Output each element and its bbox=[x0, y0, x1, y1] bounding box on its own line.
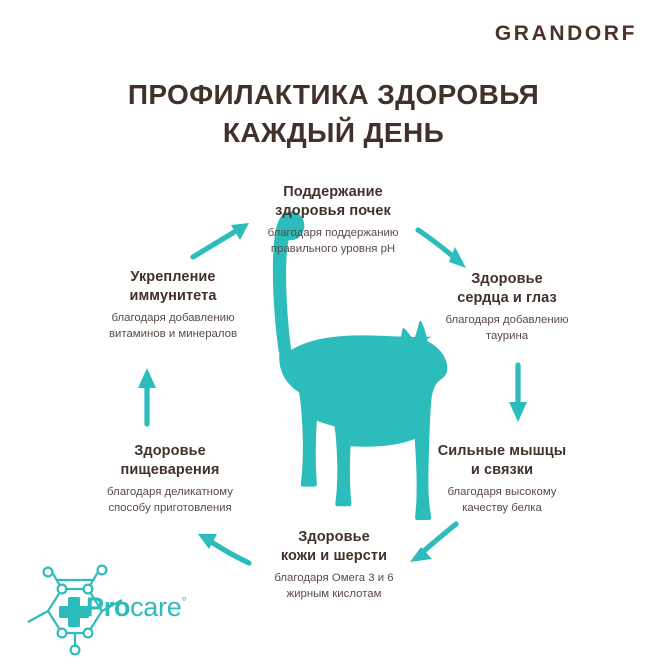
sub-line-2: таурина bbox=[412, 329, 602, 345]
cycle-node-skin-heading: Здоровье кожи и шерсти bbox=[235, 528, 433, 566]
cycle-node-immunity-heading: Укрепление иммунитета bbox=[78, 268, 268, 306]
sub-line-1: благодаря деликатному bbox=[70, 485, 270, 501]
sub-line-2: правильного уровня pH bbox=[233, 242, 433, 258]
brand-logo: GRANDORF bbox=[495, 22, 637, 46]
sub-line-1: благодаря добавлению bbox=[412, 313, 602, 329]
cycle-node-heart-heading: Здоровье сердца и глаз bbox=[412, 270, 602, 308]
heading-line-2: пищеварения bbox=[70, 461, 270, 480]
page-title: ПРОФИЛАКТИКА ЗДОРОВЬЯ КАЖДЫЙ ДЕНЬ bbox=[0, 76, 667, 151]
cycle-node-skin: Здоровье кожи и шерсти благодаря Омега 3… bbox=[235, 528, 433, 602]
sub-line-2: витаминов и минералов bbox=[78, 327, 268, 343]
cycle-node-muscles: Сильные мышцы и связки благодаря высоком… bbox=[404, 442, 600, 516]
cycle-node-heart-subtext: благодаря добавлению таурина bbox=[412, 313, 602, 344]
heading-line-1: Поддержание bbox=[233, 183, 433, 202]
procare-care-text: care bbox=[130, 592, 181, 622]
cycle-node-digestion-subtext: благодаря деликатному способу приготовле… bbox=[70, 485, 270, 516]
cycle-node-immunity-subtext: благодаря добавлению витаминов и минерал… bbox=[78, 311, 268, 342]
heading-line-2: иммунитета bbox=[78, 287, 268, 306]
sub-line-1: благодаря Омега 3 и 6 bbox=[235, 571, 433, 587]
cycle-node-kidney-subtext: благодаря поддержанию правильного уровня… bbox=[233, 226, 433, 257]
cycle-node-kidney: Поддержание здоровья почек благодаря под… bbox=[233, 183, 433, 257]
cycle-node-digestion-heading: Здоровье пищеварения bbox=[70, 442, 270, 480]
sub-line-1: благодаря поддержанию bbox=[233, 226, 433, 242]
heading-line-1: Здоровье bbox=[412, 270, 602, 289]
cycle-node-heart: Здоровье сердца и глаз благодаря добавле… bbox=[412, 270, 602, 344]
sub-line-1: благодаря высокому bbox=[404, 485, 600, 501]
arrow-heart-to-muscles bbox=[509, 365, 527, 422]
cycle-node-muscles-subtext: благодаря высокому качеству белка bbox=[404, 485, 600, 516]
heading-line-2: сердца и глаз bbox=[412, 289, 602, 308]
sub-line-2: качеству белка bbox=[404, 501, 600, 517]
cycle-node-immunity: Укрепление иммунитета благодаря добавлен… bbox=[78, 268, 268, 342]
cycle-node-muscles-heading: Сильные мышцы и связки bbox=[404, 442, 600, 480]
heading-line-2: и связки bbox=[404, 461, 600, 480]
sub-line-2: способу приготовления bbox=[70, 501, 270, 517]
heading-line-1: Здоровье bbox=[235, 528, 433, 547]
arrow-digestion-to-immunity bbox=[138, 368, 156, 424]
sub-line-2: жирным кислотам bbox=[235, 587, 433, 603]
page-title-line-2: КАЖДЫЙ ДЕНЬ bbox=[0, 114, 667, 152]
infographic-canvas: GRANDORF ПРОФИЛАКТИКА ЗДОРОВЬЯ КАЖДЫЙ ДЕ… bbox=[0, 0, 667, 667]
cycle-node-skin-subtext: благодаря Омега 3 и 6 жирным кислотам bbox=[235, 571, 433, 602]
heading-line-1: Здоровье bbox=[70, 442, 270, 461]
procare-pro-text: Pro bbox=[86, 592, 130, 622]
medical-cross-icon bbox=[59, 597, 89, 627]
heading-line-1: Сильные мышцы bbox=[404, 442, 600, 461]
cycle-node-kidney-heading: Поддержание здоровья почек bbox=[233, 183, 433, 221]
procare-degree-mark: ° bbox=[181, 594, 186, 609]
heading-line-2: кожи и шерсти bbox=[235, 547, 433, 566]
sub-line-1: благодаря добавлению bbox=[78, 311, 268, 327]
procare-logo: Procare° bbox=[86, 592, 186, 623]
page-title-line-1: ПРОФИЛАКТИКА ЗДОРОВЬЯ bbox=[0, 76, 667, 114]
heading-line-1: Укрепление bbox=[78, 268, 268, 287]
cycle-node-digestion: Здоровье пищеварения благодаря деликатно… bbox=[70, 442, 270, 516]
heading-line-2: здоровья почек bbox=[233, 202, 433, 221]
